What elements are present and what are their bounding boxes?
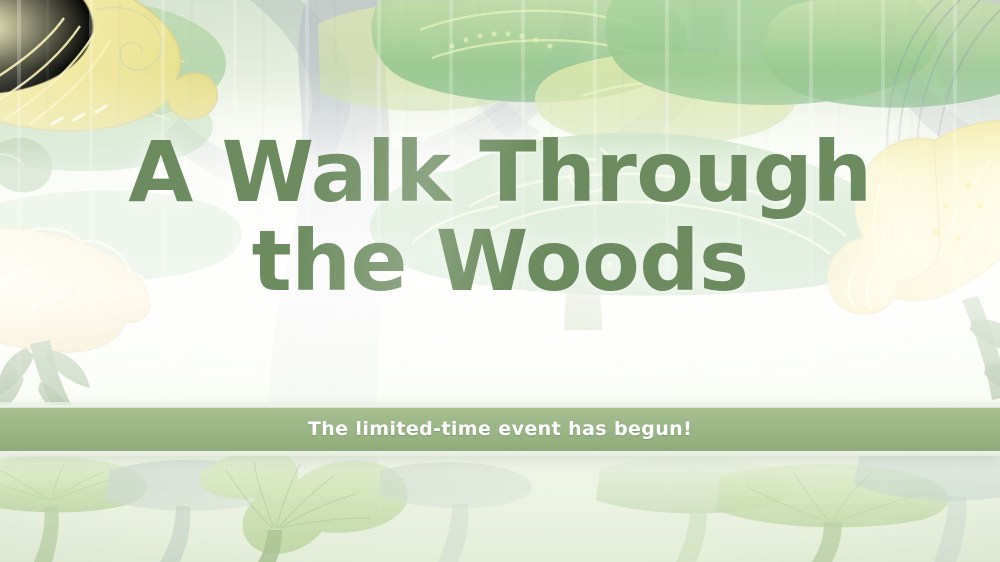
forest-illustration (0, 0, 1000, 562)
yellow-flower-right (828, 120, 1000, 400)
event-status-text: The limited-time event has begun! (308, 418, 692, 440)
event-splash-screen: A Walk Through the Woods The limited-tim… (0, 0, 1000, 562)
event-status-banner: The limited-time event has begun! (0, 405, 1000, 453)
ginkgo-leaf-plants (0, 442, 1000, 562)
